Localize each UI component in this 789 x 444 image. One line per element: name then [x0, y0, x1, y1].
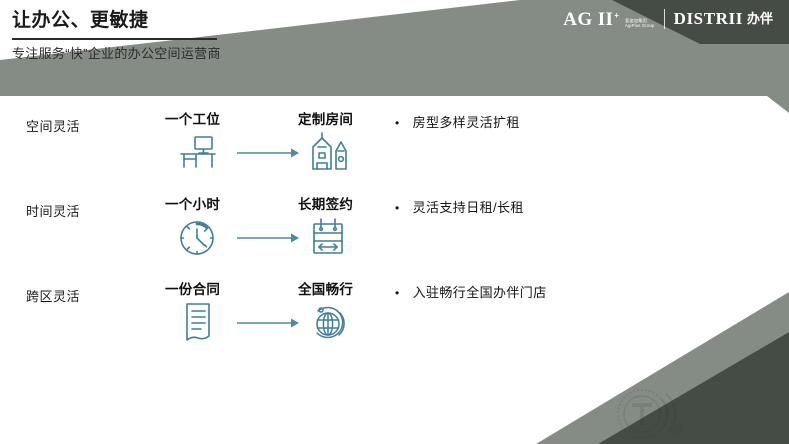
feature-from-caption: 一个工位 — [165, 108, 220, 128]
distrii-logo: DISTRII 办伴 — [674, 10, 773, 28]
arrow-right-icon — [237, 231, 301, 243]
agii-logo-subtext: 爱姿加集团 AgiPlus Group — [625, 18, 655, 28]
logo-divider — [664, 9, 665, 29]
bullet-marker: • — [395, 287, 400, 300]
bullet-text: 房型多样灵活扩租 — [413, 112, 520, 131]
feature-row-pair: 一份合同 全国畅行 — [165, 266, 370, 351]
agii-logo-subtext-en: AgiPlus Group — [625, 23, 655, 28]
agii-logo: AG II + 爱姿加集团 AgiPlus Group — [563, 10, 654, 29]
bullet-marker: • — [395, 202, 400, 215]
feature-to-caption: 长期签约 — [298, 193, 353, 213]
building-icon — [305, 129, 351, 173]
deco-bottom-white-notch — [745, 404, 789, 444]
feature-row-label: 空间灵活 — [26, 116, 80, 135]
svg-text:湖: 湖 — [670, 422, 683, 437]
feature-to-caption: 全国畅行 — [298, 278, 353, 298]
deco-bottom-left-light — [540, 370, 789, 444]
deco-bottom-dark — [600, 370, 789, 444]
slide-canvas: 湖 让办公、更敏捷 专注服务“快”企业的办公空间运营商 AG II + 爱姿加集… — [0, 0, 789, 444]
feature-row: 时间灵活 一个小时 长期签约 — [0, 181, 789, 266]
feature-bullet: • 灵活支持日租/长租 — [395, 197, 524, 216]
feature-bullet: • 房型多样灵活扩租 — [395, 112, 520, 131]
feature-row-pair: 一个小时 长期签约 — [165, 181, 370, 266]
feature-row-label: 时间灵活 — [26, 201, 80, 220]
feature-to-caption: 定制房间 — [298, 108, 353, 128]
bullet-text: 入驻畅行全国办伴门店 — [413, 282, 547, 301]
distrii-logo-en: DISTRII — [674, 10, 743, 28]
feature-row-label: 跨区灵活 — [26, 286, 80, 305]
title-underline — [12, 38, 217, 40]
distrii-logo-cn: 办伴 — [747, 10, 773, 28]
brand-logo-bar: AG II + 爱姿加集团 AgiPlus Group DISTRII 办伴 — [563, 9, 773, 29]
feature-row: 空间灵活 一个工位 定制房间 — [0, 96, 789, 181]
bullet-text: 灵活支持日租/长租 — [413, 197, 524, 216]
arrow-right-icon — [237, 316, 301, 328]
slide-header: 让办公、更敏捷 专注服务“快”企业的办公空间运营商 — [12, 8, 432, 63]
agii-logo-superscript: + — [614, 12, 619, 20]
arrow-right-icon — [237, 146, 301, 158]
page-title: 让办公、更敏捷 — [12, 8, 149, 37]
feature-rows: 空间灵活 一个工位 定制房间 — [0, 96, 789, 351]
feature-row: 跨区灵活 一份合同 全国畅行 — [0, 266, 789, 351]
page-subtitle: 专注服务“快”企业的办公空间运营商 — [12, 44, 432, 63]
feature-row-pair: 一个工位 定制房间 — [165, 96, 370, 181]
stopwatch-icon — [175, 214, 221, 258]
feature-from-caption: 一份合同 — [165, 278, 220, 298]
desk-icon — [175, 129, 221, 173]
circular-stamp-watermark-icon: 湖 — [608, 388, 728, 444]
feature-bullet: • 入驻畅行全国办伴门店 — [395, 282, 547, 301]
contract-document-icon — [175, 299, 221, 343]
bullet-marker: • — [395, 117, 400, 130]
feature-from-caption: 一个小时 — [165, 193, 220, 213]
globe-orbit-icon — [305, 299, 351, 343]
agii-logo-wordmark: AG II — [563, 10, 613, 29]
calendar-range-icon — [305, 214, 351, 258]
